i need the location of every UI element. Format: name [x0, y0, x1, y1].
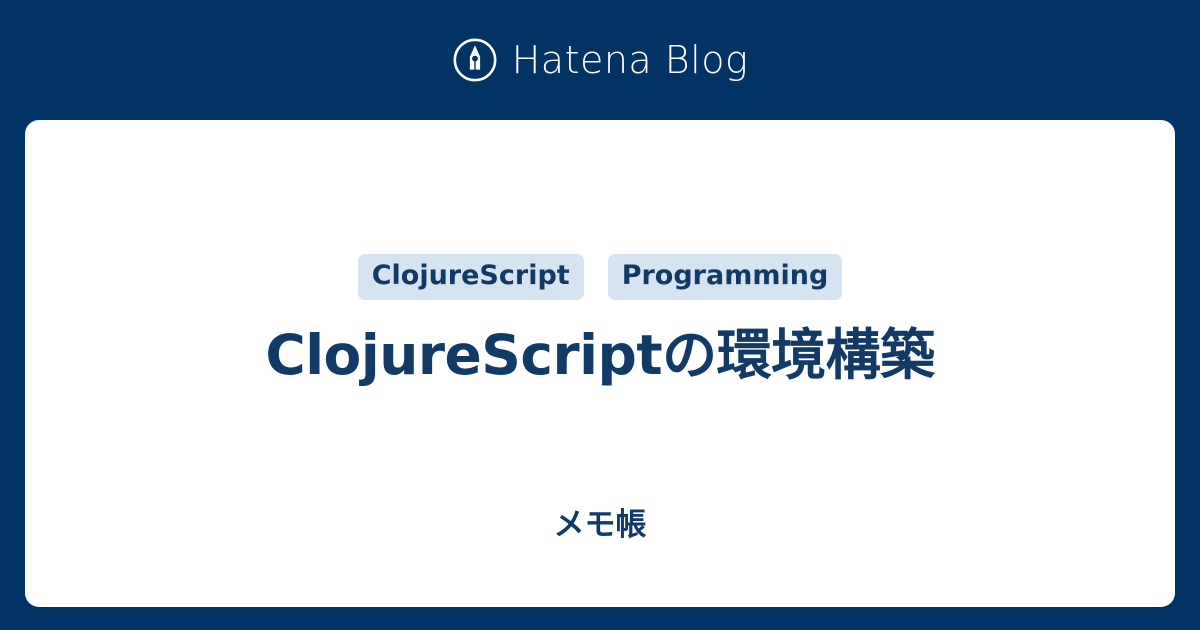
- tag-programming[interactable]: Programming: [608, 254, 843, 300]
- entry-card: ClojureScript Programming ClojureScriptの…: [25, 120, 1175, 607]
- brand-name-label: Hatena Blog: [512, 41, 749, 79]
- tag-clojurescript[interactable]: ClojureScript: [358, 254, 584, 300]
- pen-nib-circle-icon: [452, 37, 498, 83]
- entry-title: ClojureScriptの環境構築: [25, 321, 1175, 390]
- tag-list: ClojureScript Programming: [25, 254, 1175, 300]
- entry-card-body: ClojureScript Programming ClojureScriptの…: [25, 120, 1175, 607]
- hatena-blog-logo: [452, 37, 498, 83]
- ogp-card-root: Hatena Blog ClojureScript Programming Cl…: [0, 0, 1200, 630]
- blog-name: メモ帳: [25, 510, 1175, 541]
- brand-header: Hatena Blog: [0, 0, 1200, 120]
